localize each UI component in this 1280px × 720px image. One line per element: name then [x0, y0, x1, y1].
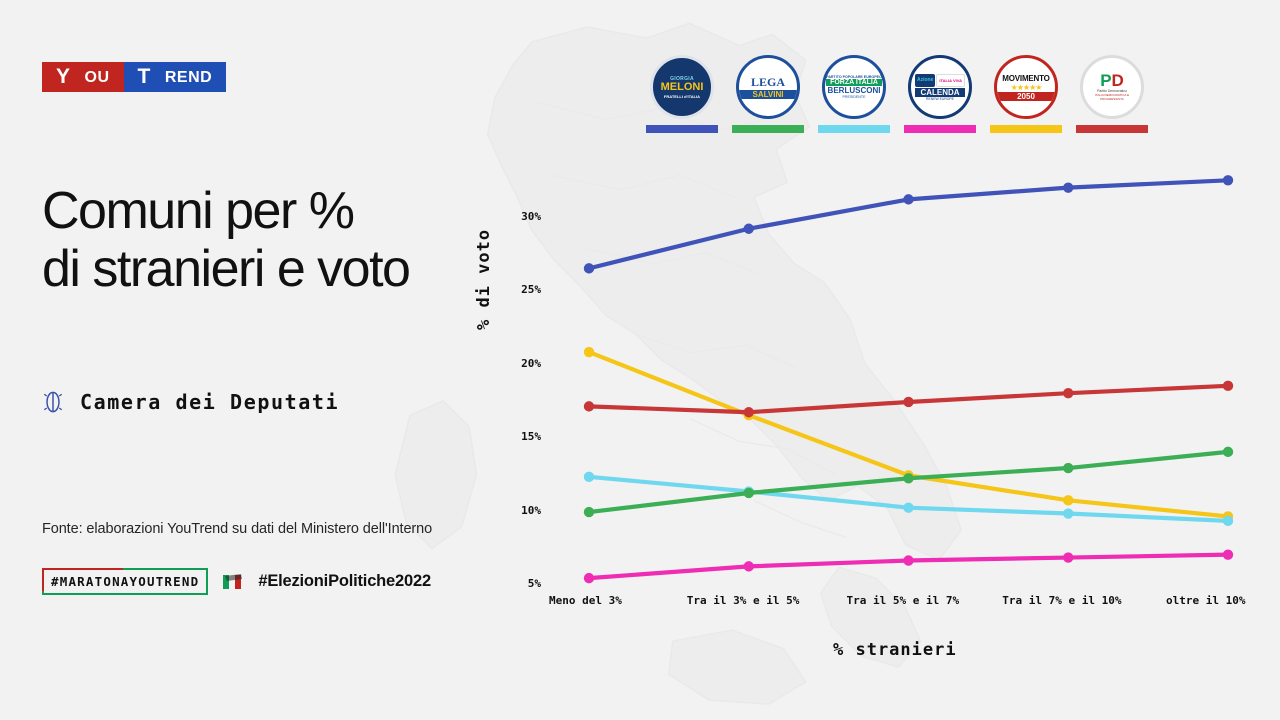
data-point[interactable]: [1063, 388, 1073, 398]
chamber-label-row: Camera dei Deputati: [42, 388, 339, 416]
lega-logo-icon: LEGA SALVINI: [736, 55, 800, 119]
series-line-1: [589, 352, 1228, 516]
movimento-5-stelle-logo-icon: MOVIMENTO ★★★★★ 2050: [994, 55, 1058, 119]
x-axis-tick-label: oltre il 10%: [1166, 594, 1245, 607]
youtrend-logo: YOU TREND: [42, 62, 226, 92]
data-point[interactable]: [1223, 447, 1233, 457]
m5s-logo-line3: 2050: [997, 92, 1055, 101]
page-title: Comuni per % di stranieri e voto: [42, 182, 409, 298]
montecitorio-icon: [42, 388, 64, 416]
logo-trend: TREND: [124, 62, 227, 92]
logo-you: YOU: [42, 62, 124, 92]
data-point[interactable]: [1063, 182, 1073, 192]
data-point[interactable]: [584, 347, 594, 357]
party-color-bar-pd: [1076, 125, 1148, 133]
data-point[interactable]: [903, 397, 913, 407]
m5s-logo-line1: MOVIMENTO: [997, 74, 1055, 83]
data-point[interactable]: [584, 472, 594, 482]
party-legend: GIORGIA MELONI FRATELLI d'ITALIA LEGA SA…: [645, 55, 1149, 133]
party-color-bar-m5s: [990, 125, 1062, 133]
data-point[interactable]: [744, 407, 754, 417]
forza-italia-logo-icon: PARTITO POPOLARE EUROPEO FORZA ITALIA BE…: [822, 55, 886, 119]
partito-democratico-logo-icon: PD Partito Democratico ITALIA DEMOCRATIC…: [1080, 55, 1144, 119]
fi-logo-line3: BERLUSCONI: [826, 86, 882, 95]
party-legend-item-azione[interactable]: Azione ITALIA VIVA CALENDA RENEW EUROPE: [903, 55, 977, 133]
lega-logo-line1: LEGA: [739, 75, 797, 90]
party-legend-item-lega[interactable]: LEGA SALVINI: [731, 55, 805, 133]
x-axis-tick-label: Tra il 3% e il 5%: [687, 594, 800, 607]
azione-calenda-logo-icon: Azione ITALIA VIVA CALENDA RENEW EUROPE: [908, 55, 972, 119]
party-color-bar-fdi: [646, 125, 718, 133]
fdi-logo-line3: FRATELLI d'ITALIA: [661, 94, 704, 99]
azione-logo-line3: CALENDA: [915, 88, 965, 97]
data-point[interactable]: [744, 488, 754, 498]
data-point[interactable]: [1063, 495, 1073, 505]
y-axis-tick-label: 25%: [501, 283, 541, 296]
data-point[interactable]: [584, 401, 594, 411]
hashtag-row: #MARATONAYOUTREND #ElezioniPolitiche2022: [42, 568, 431, 595]
data-point[interactable]: [1223, 516, 1233, 526]
party-legend-item-m5s[interactable]: MOVIMENTO ★★★★★ 2050: [989, 55, 1063, 133]
party-legend-item-pd[interactable]: PD Partito Democratico ITALIA DEMOCRATIC…: [1075, 55, 1149, 133]
fi-logo-line2: FORZA ITALIA: [826, 79, 882, 86]
party-legend-item-forza-italia[interactable]: PARTITO POPOLARE EUROPEO FORZA ITALIA BE…: [817, 55, 891, 133]
data-point[interactable]: [1223, 175, 1233, 185]
lega-logo-line2: SALVINI: [739, 90, 797, 99]
y-axis-tick-label: 30%: [501, 210, 541, 223]
y-axis-tick-label: 5%: [501, 577, 541, 590]
data-point[interactable]: [1223, 549, 1233, 559]
pd-logo-line3: ITALIA DEMOCRATICA E PROGRESSISTA: [1083, 93, 1141, 101]
data-point[interactable]: [903, 194, 913, 204]
x-axis-tick-label: Tra il 7% e il 10%: [1002, 594, 1121, 607]
party-color-bar-lega: [732, 125, 804, 133]
source-note: Fonte: elaborazioni YouTrend su dati del…: [42, 521, 432, 537]
italy-flag-icon: [222, 573, 244, 591]
y-axis-tick-label: 15%: [501, 430, 541, 443]
y-axis-title: % di voto: [474, 229, 494, 330]
azione-logo-line1: Azione: [915, 74, 935, 87]
data-point[interactable]: [903, 502, 913, 512]
y-axis-tick-label: 20%: [501, 357, 541, 370]
x-axis-title: % stranieri: [833, 640, 957, 660]
data-point[interactable]: [584, 573, 594, 583]
series-line-0: [589, 180, 1228, 268]
data-point[interactable]: [903, 473, 913, 483]
data-point[interactable]: [1063, 552, 1073, 562]
data-point[interactable]: [584, 263, 594, 273]
fi-logo-line4: PRESIDENTE: [826, 95, 882, 99]
party-color-bar-forza-italia: [818, 125, 890, 133]
x-axis-tick-label: Tra il 5% e il 7%: [847, 594, 960, 607]
maratona-hashtag-badge: #MARATONAYOUTREND: [42, 568, 208, 595]
data-point[interactable]: [744, 224, 754, 234]
fratelli-ditalia-logo-icon: GIORGIA MELONI FRATELLI d'ITALIA: [650, 55, 714, 119]
data-point[interactable]: [744, 561, 754, 571]
data-point[interactable]: [584, 507, 594, 517]
data-point[interactable]: [903, 555, 913, 565]
party-legend-item-fdi[interactable]: GIORGIA MELONI FRATELLI d'ITALIA: [645, 55, 719, 133]
party-color-bar-azione: [904, 125, 976, 133]
fdi-logo-line2: MELONI: [661, 82, 704, 93]
azione-logo-line2: ITALIA VIVA: [936, 74, 965, 87]
line-chart: 5%10%15%20%25%30% Meno del 3%Tra il 3% e…: [500, 140, 1280, 640]
y-axis-tick-label: 10%: [501, 504, 541, 517]
m5s-logo-line2: ★★★★★: [997, 83, 1055, 92]
x-axis-tick-label: Meno del 3%: [549, 594, 622, 607]
data-point[interactable]: [1063, 508, 1073, 518]
chamber-label: Camera dei Deputati: [80, 390, 339, 414]
pd-logo-line1: PD: [1083, 73, 1141, 89]
elezioni-hashtag: #ElezioniPolitiche2022: [258, 572, 431, 591]
chart-plot-area: [500, 140, 1280, 640]
azione-logo-line4: RENEW EUROPE: [915, 97, 965, 101]
data-point[interactable]: [1063, 463, 1073, 473]
data-point[interactable]: [1223, 381, 1233, 391]
